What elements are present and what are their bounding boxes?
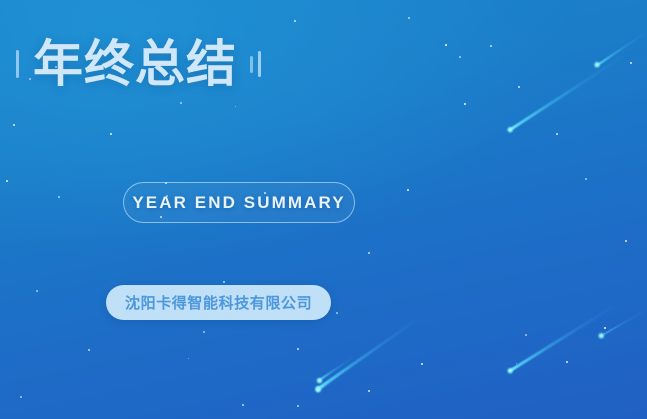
star-dot-icon [223,281,225,283]
star-dot-icon [58,196,60,198]
star-dot-icon [235,106,236,107]
star-dot-icon [516,363,517,364]
star-dot-icon [604,327,606,329]
star-dot-icon [180,102,182,104]
page-title: 年终总结 [33,37,237,91]
star-dot-icon [585,178,587,180]
meteor-bottom-left-icon [317,355,355,381]
meteor-bottom-right-icon [508,303,618,374]
star-dot-icon [36,290,38,292]
star-dot-icon [297,405,299,407]
star-dot-icon [20,396,22,398]
english-subtitle-label: YEAR END SUMMARY [132,193,345,213]
english-subtitle-pill: YEAR END SUMMARY [123,182,355,223]
star-dot-icon [421,363,423,365]
company-name-badge: 沈阳卡得智能科技有限公司 [106,285,331,320]
star-dot-icon [242,404,244,406]
meteor-mid-left-icon [317,373,342,392]
star-dot-icon [110,133,112,135]
star-dot-icon [368,252,370,254]
title-right-tick-group [237,33,261,95]
star-dot-icon [518,86,520,88]
meteor-bottom-right-faint-icon [600,307,647,337]
meteor-bottom-center-icon [316,312,426,390]
company-name-label: 沈阳卡得智能科技有限公司 [125,292,312,313]
star-dot-icon [464,103,466,105]
meteor-far-top-right-icon [596,31,647,67]
star-dot-icon [336,312,338,314]
star-dot-icon [6,180,8,182]
star-dot-icon [630,62,632,64]
star-dot-icon [625,240,627,242]
star-dot-icon [408,17,410,19]
star-dot-icon [203,331,205,333]
star-dot-icon [368,390,370,392]
star-dot-icon [459,56,461,58]
year-end-summary-slide: 年终总结 YEAR END SUMMARY 沈阳卡得智能科技有限公司 [0,0,647,419]
title-left-tick-icon [16,50,19,78]
star-dot-icon [294,20,296,22]
star-dot-icon [445,44,447,46]
star-dot-icon [525,334,527,336]
star-dot-icon [13,124,15,126]
star-dot-icon [407,189,409,191]
star-dot-icon [490,45,492,47]
star-dot-icon [566,361,568,363]
star-dot-icon [88,349,90,351]
title-right-tick-large-icon [258,51,261,77]
star-dot-icon [188,358,189,359]
star-dot-icon [556,133,558,135]
title-row: 年终总结 [16,33,261,95]
title-right-tick-small-icon [250,56,253,73]
star-dot-icon [297,348,299,350]
meteor-top-right-icon [508,53,627,132]
